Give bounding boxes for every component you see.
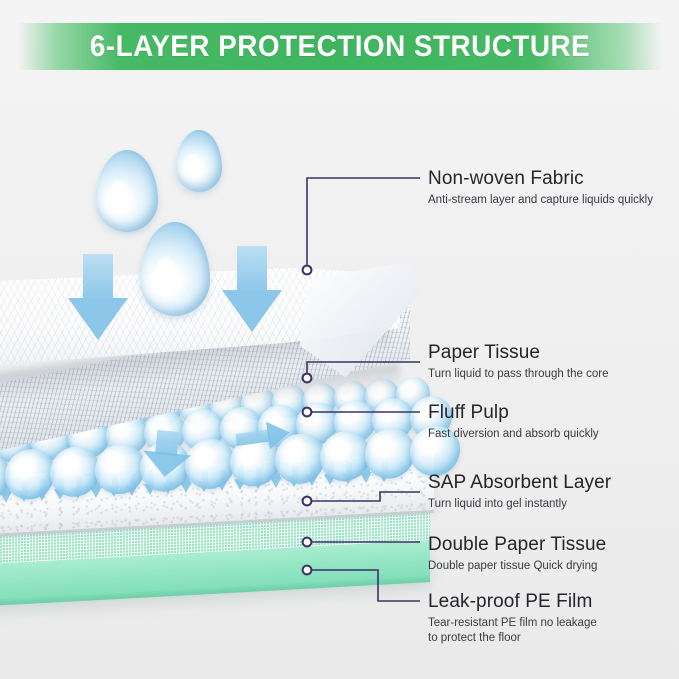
page-title: 6-LAYER PROTECTION STRUCTURE bbox=[41, 23, 640, 70]
layer-desc-line2: to protect the floor bbox=[428, 631, 597, 646]
label-leak-proof-pe-film: Leak-proof PE Film Tear-resistant PE fil… bbox=[428, 591, 597, 646]
sap-bead bbox=[5, 448, 55, 501]
layer-title: Double Paper Tissue bbox=[428, 534, 606, 556]
sap-bead bbox=[185, 437, 235, 490]
sap-bead bbox=[320, 430, 370, 483]
label-sap-absorbent-layer: SAP Absorbent Layer Turn liquid into gel… bbox=[428, 472, 611, 512]
layer-desc: Tear-resistant PE film no leakage bbox=[428, 616, 597, 631]
layer-title: Paper Tissue bbox=[428, 342, 609, 364]
label-paper-tissue: Paper Tissue Turn liquid to pass through… bbox=[428, 342, 609, 382]
layer-title: Non-woven Fabric bbox=[428, 168, 653, 190]
flow-down-arrow-mid-icon bbox=[141, 429, 194, 480]
sap-bead bbox=[50, 445, 100, 498]
layer-title: Leak-proof PE Film bbox=[428, 591, 597, 613]
flow-down-arrow-right-icon bbox=[222, 246, 282, 332]
water-droplet-icon bbox=[140, 222, 210, 316]
flow-down-arrow-left-icon bbox=[68, 254, 128, 340]
water-droplet-icon bbox=[176, 130, 222, 192]
layer-desc: Anti-stream layer and capture liquids qu… bbox=[428, 193, 653, 208]
label-fluff-pulp: Fluff Pulp Fast diversion and absorb qui… bbox=[428, 402, 599, 442]
title-banner: 6-LAYER PROTECTION STRUCTURE bbox=[18, 23, 662, 70]
layer-desc: Turn liquid into gel instantly bbox=[428, 497, 611, 512]
label-non-woven-fabric: Non-woven Fabric Anti-stream layer and c… bbox=[428, 168, 653, 208]
layer-desc: Turn liquid to pass through the core bbox=[428, 367, 609, 382]
layer-title: SAP Absorbent Layer bbox=[428, 472, 611, 494]
sap-bead bbox=[95, 443, 145, 496]
label-double-paper-tissue: Double Paper Tissue Double paper tissue … bbox=[428, 534, 606, 574]
layer-title: Fluff Pulp bbox=[428, 402, 599, 424]
layer-desc: Double paper tissue Quick drying bbox=[428, 559, 606, 574]
layer-desc: Fast diversion and absorb quickly bbox=[428, 427, 599, 442]
water-droplet-icon bbox=[96, 150, 158, 232]
infographic-root: 6-LAYER PROTECTION STRUCTURE bbox=[0, 0, 679, 679]
